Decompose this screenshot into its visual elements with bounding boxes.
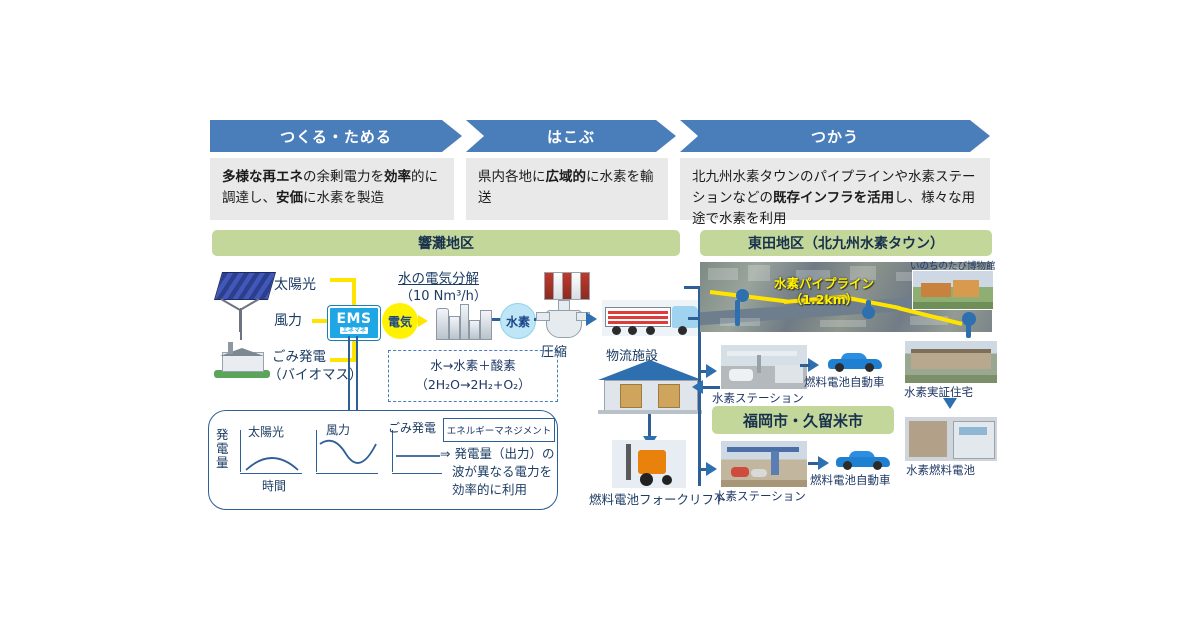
fuel-cell-forklift-icon <box>612 440 686 488</box>
pipeline-label-length: （1.2km） <box>790 292 858 307</box>
panel-note-line-1: ⇒ 発電量（出力）の <box>440 446 554 463</box>
label-museum: いのちのたび博物館 <box>910 258 996 272</box>
minichart-waste <box>392 430 444 474</box>
fcv-bottom-icon <box>836 450 890 470</box>
hydrogen-tanker-truck-icon <box>602 300 698 336</box>
region-banner-hibikinada: 響灘地区 <box>212 230 680 256</box>
flow-step-title-use: つかう <box>680 120 990 152</box>
map-pin-3-stem <box>966 318 971 338</box>
map-pin-1-stem <box>735 300 740 326</box>
arrow-compressor-to-truck <box>586 312 597 326</box>
line-station-top-to-fcv <box>800 364 810 367</box>
infographic-canvas: つくる・ためる はこぶ つかう 多様な再エネの余剰電力を効率的に調達し、安価に水… <box>0 0 1200 630</box>
panel-x-axis-label: 時間 <box>262 478 286 494</box>
panel-note-line-3: 効率的に利用 <box>452 482 527 499</box>
flow-step-title-make-store: つくる・ためる <box>210 120 462 152</box>
energy-management-box: エネルギーマネジメント <box>443 418 555 442</box>
hydrogen-cylinder-bundle-icon <box>544 272 592 298</box>
panel-y-axis-label: 発電量 <box>216 428 230 470</box>
minichart-solar-label: 太陽光 <box>248 424 284 440</box>
panel-note-line-2: 波が異なる電力を <box>452 464 552 481</box>
label-fuel-cell: 水素燃料電池 <box>906 462 975 478</box>
label-fcv-bottom: 燃料電池自動車 <box>810 472 891 488</box>
label-demo-house: 水素実証住宅 <box>904 384 973 400</box>
fcv-top-icon <box>828 352 882 372</box>
label-forklift: 燃料電池フォークリフト <box>589 492 727 509</box>
line-ems-to-panel-b <box>356 336 358 412</box>
minichart-wind-label: 風力 <box>326 422 350 438</box>
arrow-to-warehouse <box>692 380 703 394</box>
minichart-waste-curve <box>392 430 444 474</box>
label-station-top: 水素ステーション <box>712 390 804 406</box>
formula-line-2: （2H₂O→2H₂+O₂） <box>415 376 530 395</box>
flow-step-desc-use: 北九州水素タウンのパイプラインや水素ステーションなどの既存インフラを活用し、様々… <box>680 158 990 220</box>
label-fcv-top: 燃料電池自動車 <box>804 374 885 390</box>
pipeline-label: 水素パイプライン （1.2km） <box>744 276 904 307</box>
fuel-cell-photo <box>904 416 998 462</box>
wind-turbine-icon <box>214 302 270 342</box>
logistics-warehouse-icon <box>598 360 702 414</box>
formula-line-1: 水→水素＋酸素 <box>430 357 515 376</box>
arrow-house-to-fuelcell <box>943 398 957 409</box>
museum-photo <box>912 270 994 310</box>
line-warehouse-to-forklift <box>648 414 651 438</box>
region-banner-higashida: 東田地区（北九州水素タウン） <box>700 230 992 256</box>
flow-step-title-transport: はこぶ <box>466 120 676 152</box>
demo-house-photo <box>904 340 998 384</box>
biomass-plant-icon <box>214 344 270 378</box>
label-compression: 圧縮 <box>541 344 567 362</box>
arrow-to-station-bottom <box>706 462 717 476</box>
compressor-icon <box>540 298 586 340</box>
hydrogen-station-bottom-photo <box>720 440 808 488</box>
region-banner-fukuoka-kurume: 福岡市・久留米市 <box>712 406 894 434</box>
electrolysis-formula-box: 水→水素＋酸素 （2H₂O→2H₂+O₂） <box>388 350 558 402</box>
label-station-bottom: 水素ステーション <box>714 488 806 504</box>
arrow-station-bottom-to-fcv <box>818 456 829 470</box>
pipeline-label-name: 水素パイプライン <box>774 276 874 291</box>
hydrogen-station-top-photo <box>720 344 808 390</box>
hydrogen-bubble: 水素 <box>500 303 536 339</box>
line-truck-to-bus <box>688 317 700 320</box>
solar-panel-icon <box>214 272 276 300</box>
flow-step-desc-transport: 県内各地に広域的に水素を輸送 <box>466 158 668 220</box>
ems-acronym: EMS <box>336 312 371 326</box>
electricity-bubble: 電気 <box>382 303 418 339</box>
label-biomass: ごみ発電 <box>272 348 326 366</box>
label-wind: 風力 <box>274 312 302 331</box>
ems-badge: EMS エネマネ <box>328 306 380 340</box>
flow-step-desc-make-store: 多様な再エネの余剰電力を効率的に調達し、安価に水素を製造 <box>210 158 454 220</box>
map-pin-2-stem <box>866 300 871 318</box>
minichart-waste-label: ごみ発電 <box>388 420 436 436</box>
line-ems-to-panel-a <box>348 336 350 412</box>
label-solar: 太陽光 <box>274 276 316 295</box>
arrow-to-station-top <box>706 364 717 378</box>
ems-kana: エネマネ <box>340 327 368 335</box>
arrow-electricity-to-electrolyser <box>418 315 428 327</box>
label-electrolysis-title: 水の電気分解 <box>398 270 479 288</box>
electrolyser-icon <box>436 302 492 340</box>
